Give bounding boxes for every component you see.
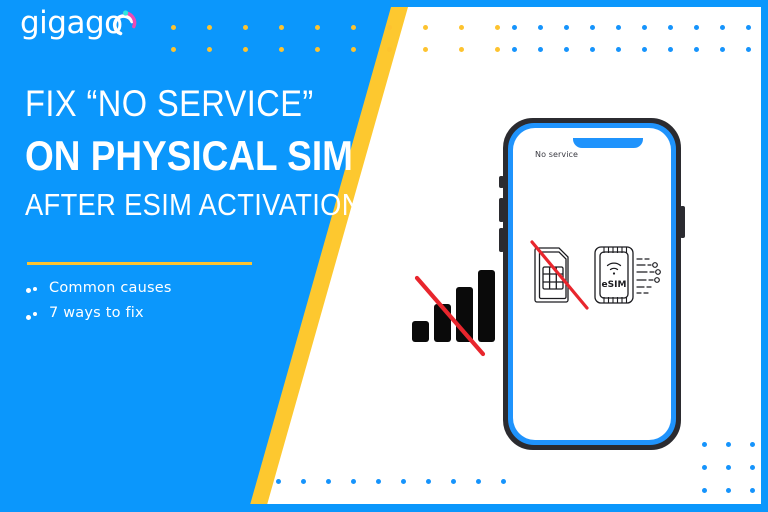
red-strike-through-icon	[408, 270, 490, 360]
decorative-dot	[726, 488, 731, 493]
decorative-dot	[702, 465, 707, 470]
decorative-dot	[538, 47, 543, 52]
dot-grid-yellow-top-left	[171, 25, 531, 69]
decorative-dot	[642, 25, 647, 30]
decorative-dot	[276, 479, 281, 484]
phone-notch	[573, 138, 643, 148]
brand-logo-text: gigago	[20, 8, 123, 39]
decorative-dot	[315, 47, 320, 52]
decorative-dot	[243, 47, 248, 52]
decorative-dot	[351, 25, 356, 30]
decorative-dot	[501, 479, 506, 484]
decorative-dot	[564, 25, 569, 30]
decorative-dot	[451, 479, 456, 484]
decorative-dot	[301, 479, 306, 484]
decorative-dot	[171, 47, 176, 52]
decorative-dot	[476, 479, 481, 484]
physical-sim-card-icon	[535, 248, 568, 302]
decorative-dot	[746, 25, 751, 30]
decorative-dot	[459, 25, 464, 30]
decorative-dot	[590, 47, 595, 52]
decorative-dot	[207, 25, 212, 30]
decorative-dot	[702, 442, 707, 447]
decorative-dot	[495, 25, 500, 30]
decorative-dot	[387, 25, 392, 30]
decorative-dot	[616, 25, 621, 30]
frame-border-bottom	[0, 504, 768, 512]
esim-label: eSIM	[602, 280, 627, 290]
gigago-swoosh-icon	[112, 9, 138, 39]
decorative-dot	[376, 479, 381, 484]
decorative-dot	[668, 25, 673, 30]
frame-border-right	[761, 0, 768, 512]
list-item: 7 ways to fix	[31, 301, 172, 326]
decorative-dot	[512, 25, 517, 30]
phone-screen: No service	[513, 128, 671, 440]
decorative-dot	[720, 47, 725, 52]
decorative-dot	[590, 25, 595, 30]
decorative-dot	[538, 25, 543, 30]
headline-line-3: AFTER ESIM ACTIVATION	[25, 188, 289, 222]
decorative-dot	[279, 47, 284, 52]
phone-mockup: No service	[497, 118, 687, 450]
decorative-dot	[512, 47, 517, 52]
decorative-dot	[694, 25, 699, 30]
signal-bars-icon	[408, 270, 490, 360]
decorative-dot	[495, 47, 500, 52]
decorative-dot	[423, 47, 428, 52]
decorative-dot	[668, 47, 673, 52]
decorative-dot	[750, 442, 755, 447]
poster-canvas: gigago FIX “NO SERVICE” ON PHYSICAL SIM …	[0, 0, 768, 512]
wifi-signal-arc-icon	[608, 263, 621, 275]
decorative-dot	[564, 47, 569, 52]
decorative-dot	[702, 488, 707, 493]
esim-chip-icon	[595, 247, 633, 303]
decorative-dot	[616, 47, 621, 52]
decorative-dot	[750, 465, 755, 470]
headline-block: FIX “NO SERVICE” ON PHYSICAL SIM AFTER E…	[25, 84, 325, 222]
dot-grid-blue-bottom-right	[702, 442, 768, 511]
list-item: Common causes	[31, 276, 172, 301]
decorative-dot	[746, 47, 751, 52]
decorative-dot	[720, 25, 725, 30]
decorative-dot	[279, 25, 284, 30]
decorative-dot	[642, 47, 647, 52]
decorative-dot	[351, 47, 356, 52]
decorative-dot	[726, 442, 731, 447]
decorative-dot	[315, 25, 320, 30]
bullet-list: Common causes 7 ways to fix	[31, 276, 172, 326]
decorative-dot	[426, 479, 431, 484]
status-badge: No service	[535, 150, 578, 159]
decorative-dot	[387, 47, 392, 52]
decorative-dot	[423, 25, 428, 30]
headline-line-1: FIX “NO SERVICE”	[25, 84, 289, 124]
decorative-dot	[459, 47, 464, 52]
yellow-rule-divider	[27, 262, 252, 265]
circuit-traces-icon	[637, 259, 660, 293]
dot-grid-blue-top-right	[512, 25, 768, 69]
decorative-dot	[750, 488, 755, 493]
dot-grid-blue-bottom	[276, 479, 526, 501]
decorative-dot	[726, 465, 731, 470]
decorative-dot	[351, 479, 356, 484]
decorative-dot	[207, 47, 212, 52]
brand-logo[interactable]: gigago	[20, 8, 138, 39]
decorative-dot	[694, 47, 699, 52]
sim-comparison-graphic: eSIM	[527, 240, 667, 310]
headline-line-2: ON PHYSICAL SIM	[25, 132, 289, 179]
decorative-dot	[401, 479, 406, 484]
frame-border-top	[0, 0, 768, 7]
decorative-dot	[326, 479, 331, 484]
decorative-dot	[243, 25, 248, 30]
decorative-dot	[171, 25, 176, 30]
